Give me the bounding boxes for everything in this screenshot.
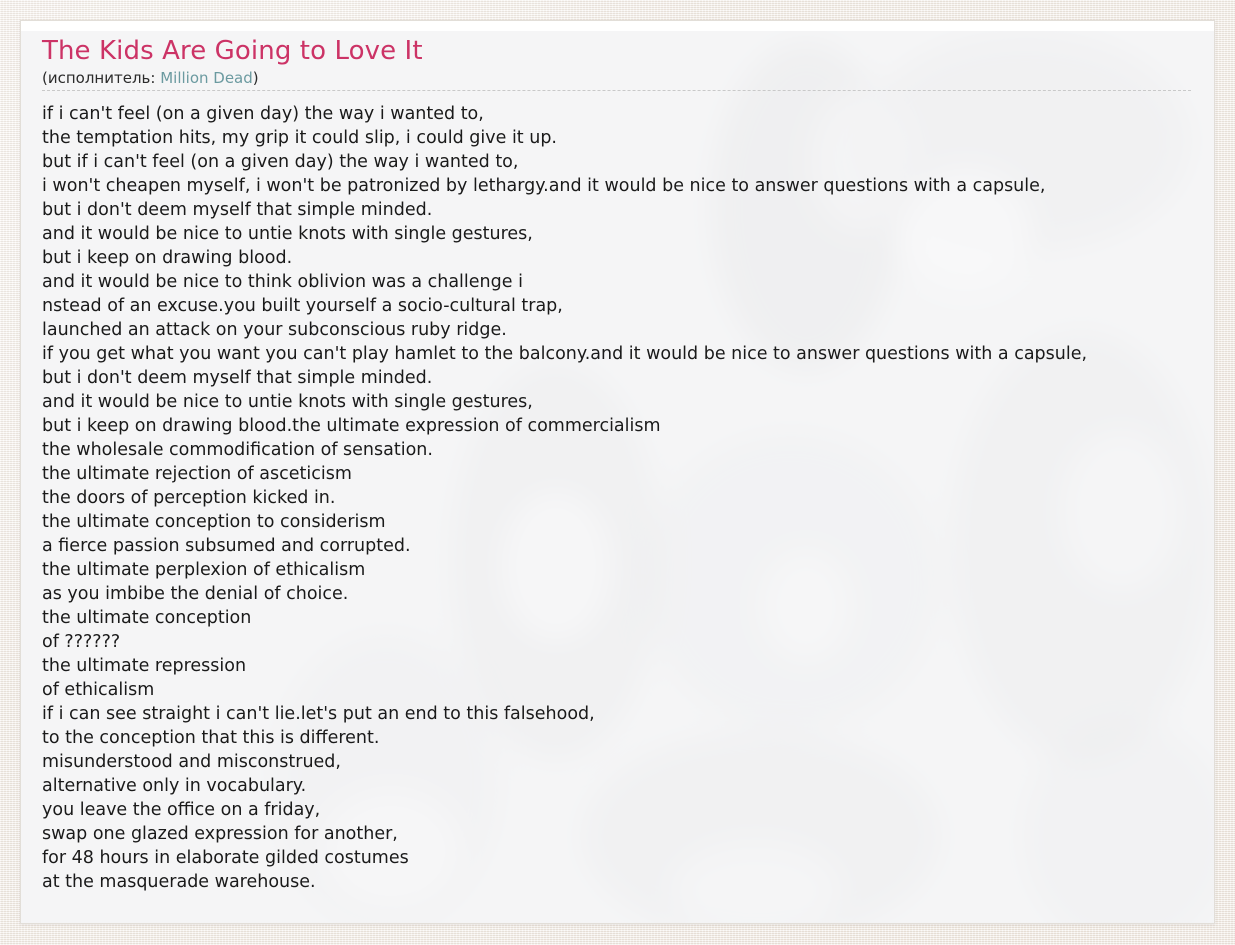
lyric-line: the ultimate conception to considerism — [42, 510, 1214, 534]
song-header: The Kids Are Going to Love It (исполните… — [42, 37, 1191, 91]
lyric-line: the ultimate conception — [42, 606, 1214, 630]
lyric-line: i won't cheapen myself, i won't be patro… — [42, 174, 1214, 198]
artist-suffix-label: ) — [253, 69, 259, 87]
lyric-line: as you imbibe the denial of choice. — [42, 582, 1214, 606]
lyric-line: the doors of perception kicked in. — [42, 486, 1214, 510]
lyric-line: for 48 hours in elaborate gilded costume… — [42, 846, 1214, 870]
lyric-line: and it would be nice to untie knots with… — [42, 222, 1214, 246]
page-title: The Kids Are Going to Love It — [42, 37, 1191, 66]
lyric-line: but if i can't feel (on a given day) the… — [42, 150, 1214, 174]
lyric-line: but i don't deem myself that simple mind… — [42, 366, 1214, 390]
lyric-line: to the conception that this is different… — [42, 726, 1214, 750]
lyric-line: at the masquerade warehouse. — [42, 870, 1214, 894]
artist-prefix-label: (исполнитель: — [42, 69, 155, 87]
lyric-line: launched an attack on your subconscious … — [42, 318, 1214, 342]
song-content-panel: The Kids Are Going to Love It (исполните… — [20, 20, 1215, 924]
artist-line: (исполнитель: Million Dead) — [42, 69, 1191, 88]
lyric-line: and it would be nice to think oblivion w… — [42, 270, 1214, 294]
lyric-line: if you get what you want you can't play … — [42, 342, 1214, 366]
lyric-line: of ethicalism — [42, 678, 1214, 702]
lyric-line: but i don't deem myself that simple mind… — [42, 198, 1214, 222]
lyric-line: misunderstood and misconstrued, — [42, 750, 1214, 774]
lyric-line: and it would be nice to untie knots with… — [42, 390, 1214, 414]
lyric-line: nstead of an excuse.you built yourself a… — [42, 294, 1214, 318]
lyric-line: of ?????? — [42, 630, 1214, 654]
lyric-line: the ultimate perplexion of ethicalism — [42, 558, 1214, 582]
lyric-line: if i can see straight i can't lie.let's … — [42, 702, 1214, 726]
lyric-line: a fierce passion subsumed and corrupted. — [42, 534, 1214, 558]
lyric-line: but i keep on drawing blood. — [42, 246, 1214, 270]
lyric-line: the temptation hits, my grip it could sl… — [42, 126, 1214, 150]
lyric-line: you leave the office on a friday, — [42, 798, 1214, 822]
lyric-line: the wholesale commodification of sensati… — [42, 438, 1214, 462]
lyric-line: but i keep on drawing blood.the ultimate… — [42, 414, 1214, 438]
lyric-line: if i can't feel (on a given day) the way… — [42, 102, 1214, 126]
lyrics-body: if i can't feel (on a given day) the way… — [42, 102, 1214, 894]
lyric-line: alternative only in vocabulary. — [42, 774, 1214, 798]
lyric-line: the ultimate repression — [42, 654, 1214, 678]
artist-link[interactable]: Million Dead — [160, 69, 253, 87]
lyric-line: the ultimate rejection of asceticism — [42, 462, 1214, 486]
lyric-line: swap one glazed expression for another, — [42, 822, 1214, 846]
